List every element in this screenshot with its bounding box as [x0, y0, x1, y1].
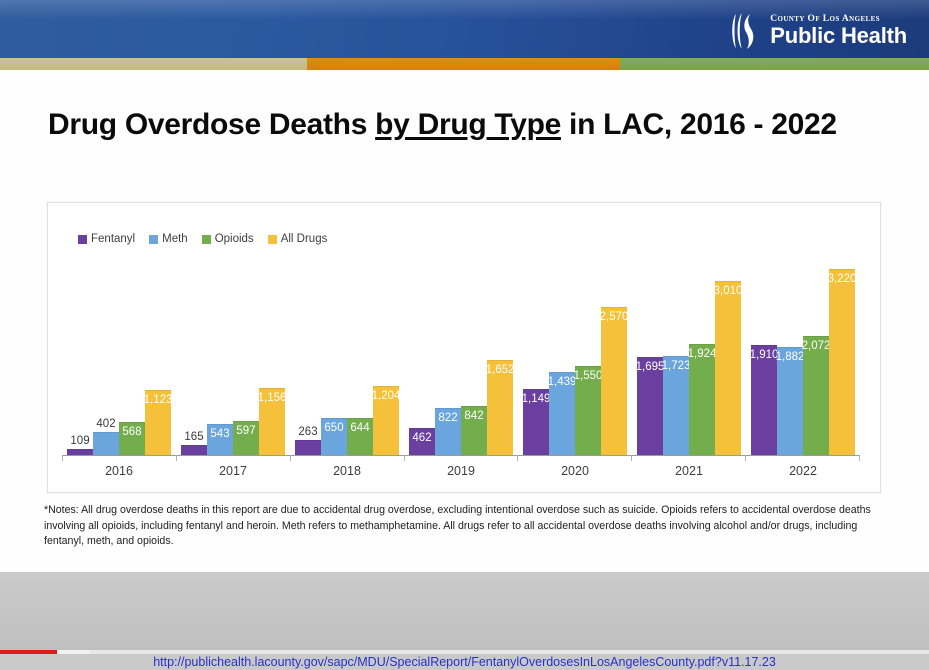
bar-all-drugs-2022: 3,220 — [829, 269, 855, 455]
bar-all-drugs-2019: 1,652 — [487, 360, 513, 455]
x-label-2016: 2016 — [62, 464, 176, 478]
bar-group-2019: 4628228421,652 — [404, 259, 518, 455]
bar-value-label: 462 — [412, 433, 431, 445]
bar-meth-2017: 543 — [207, 424, 233, 455]
x-label-2017: 2017 — [176, 464, 290, 478]
bar-fentanyl-2018: 263 — [295, 440, 321, 455]
bar-group-2021: 1,6951,7231,9243,010 — [632, 259, 746, 455]
bar-fentanyl-2019: 462 — [409, 428, 435, 455]
bar-value-label: 644 — [350, 423, 369, 435]
x-tick — [176, 455, 290, 461]
x-tick — [404, 455, 518, 461]
bar-group-2022: 1,9101,8822,0723,220 — [746, 259, 860, 455]
x-axis-labels: 2016201720182019202020212022 — [62, 464, 860, 478]
bar-value-label: 1,924 — [688, 349, 717, 361]
bar-all-drugs-2021: 3,010 — [715, 281, 741, 455]
bar-value-label: 165 — [184, 432, 203, 444]
bar-opioids-2021: 1,924 — [689, 344, 715, 455]
bar-opioids-2018: 644 — [347, 418, 373, 455]
bar-value-label: 3,220 — [828, 274, 857, 286]
bar-value-label: 1,695 — [636, 362, 665, 374]
x-tick — [62, 455, 176, 461]
bar-value-label: 1,149 — [522, 394, 551, 406]
bar-meth-2022: 1,882 — [777, 347, 803, 455]
slide-header-banner: County of Los Angeles Public Health — [0, 0, 929, 58]
x-label-2019: 2019 — [404, 464, 518, 478]
legend-swatch-icon — [268, 235, 277, 244]
bar-value-label: 1,123 — [144, 395, 173, 407]
page-title: Drug Overdose Deaths by Drug Type in LAC… — [48, 108, 908, 142]
bar-all-drugs-2020: 2,570 — [601, 307, 627, 455]
legend-label: All Drugs — [281, 233, 328, 245]
bar-value-label: 543 — [210, 429, 229, 441]
bar-value-label: 597 — [236, 426, 255, 438]
bar-opioids-2019: 842 — [461, 406, 487, 455]
x-tick — [290, 455, 404, 461]
bar-meth-2021: 1,723 — [663, 356, 689, 455]
legend-item-opioids: Opioids — [202, 233, 254, 245]
bar-value-label: 2,570 — [600, 312, 629, 324]
band-segment-tan — [0, 58, 307, 70]
logo-line-public-health: Public Health — [770, 25, 907, 47]
x-label-2020: 2020 — [518, 464, 632, 478]
legend-label: Meth — [162, 233, 188, 245]
bar-value-label: 842 — [464, 411, 483, 423]
legend-item-fentanyl: Fentanyl — [78, 233, 135, 245]
legend-label: Opioids — [215, 233, 254, 245]
bar-fentanyl-2020: 1,149 — [523, 389, 549, 455]
bar-value-label: 263 — [298, 427, 317, 439]
source-url-link[interactable]: http://publichealth.lacounty.gov/sapc/MD… — [153, 655, 776, 669]
x-tick — [517, 455, 631, 461]
bar-group-2020: 1,1491,4391,5502,570 — [518, 259, 632, 455]
bar-fentanyl-2017: 165 — [181, 445, 207, 455]
pdf-slide-viewer: County of Los Angeles Public Health Drug… — [0, 0, 929, 670]
bar-value-label: 1,882 — [776, 352, 805, 364]
band-segment-green — [620, 58, 929, 70]
chart-panel: FentanylMethOpioidsAll Drugs 1094025681,… — [47, 202, 881, 493]
bar-meth-2019: 822 — [435, 408, 461, 455]
x-tick — [631, 455, 745, 461]
bar-value-label: 1,204 — [372, 391, 401, 403]
bar-value-label: 650 — [324, 423, 343, 435]
logo-text: County of Los Angeles Public Health — [770, 15, 907, 48]
bar-value-label: 1,439 — [548, 377, 577, 389]
x-label-2021: 2021 — [632, 464, 746, 478]
title-part-1: Drug Overdose Deaths — [48, 108, 375, 141]
legend-label: Fentanyl — [91, 233, 135, 245]
bar-value-label: 3,010 — [714, 286, 743, 298]
bar-meth-2016: 402 — [93, 432, 119, 455]
bar-opioids-2020: 1,550 — [575, 366, 601, 455]
bar-opioids-2017: 597 — [233, 421, 259, 455]
legend-swatch-icon — [149, 235, 158, 244]
bar-all-drugs-2016: 1,123 — [145, 390, 171, 455]
chart-legend: FentanylMethOpioidsAll Drugs — [78, 233, 327, 245]
bar-group-2017: 1655435971,156 — [176, 259, 290, 455]
bar-value-label: 109 — [70, 436, 89, 448]
bar-meth-2020: 1,439 — [549, 372, 575, 455]
la-county-public-health-seal-icon — [730, 11, 764, 51]
bar-all-drugs-2017: 1,156 — [259, 388, 285, 455]
x-label-2022: 2022 — [746, 464, 860, 478]
legend-item-all-drugs: All Drugs — [268, 233, 328, 245]
chart-plot-area: 1094025681,1231655435971,1562636506441,2… — [62, 259, 860, 455]
bar-value-label: 402 — [96, 419, 115, 431]
bar-value-label: 1,910 — [750, 350, 779, 362]
status-url-bar: http://publichealth.lacounty.gov/sapc/MD… — [0, 654, 929, 670]
legend-swatch-icon — [78, 235, 87, 244]
bar-group-2016: 1094025681,123 — [62, 259, 176, 455]
title-part-2: in LAC, 2016 - 2022 — [561, 108, 837, 141]
bar-value-label: 1,652 — [486, 365, 515, 377]
bar-opioids-2022: 2,072 — [803, 336, 829, 455]
bar-group-2018: 2636506441,204 — [290, 259, 404, 455]
bar-opioids-2016: 568 — [119, 422, 145, 455]
la-county-public-health-logo: County of Los Angeles Public Health — [730, 10, 907, 52]
bar-meth-2018: 650 — [321, 418, 347, 455]
x-label-2018: 2018 — [290, 464, 404, 478]
bar-value-label: 2,072 — [802, 341, 831, 353]
bar-fentanyl-2021: 1,695 — [637, 357, 663, 455]
bar-all-drugs-2018: 1,204 — [373, 386, 399, 455]
bar-groups: 1094025681,1231655435971,1562636506441,2… — [62, 259, 860, 455]
x-tick — [745, 455, 860, 461]
header-accent-band — [0, 58, 929, 70]
bar-value-label: 1,723 — [662, 361, 691, 373]
bar-fentanyl-2022: 1,910 — [751, 345, 777, 455]
bar-value-label: 568 — [122, 427, 141, 439]
legend-item-meth: Meth — [149, 233, 188, 245]
bar-value-label: 1,550 — [574, 371, 603, 383]
bar-value-label: 1,156 — [258, 393, 287, 405]
slide: County of Los Angeles Public Health Drug… — [0, 0, 929, 572]
chart-notes: *Notes: All drug overdose deaths in this… — [44, 503, 872, 550]
x-axis-ticks — [62, 455, 860, 461]
legend-swatch-icon — [202, 235, 211, 244]
title-part-underlined: by Drug Type — [375, 108, 561, 141]
bar-value-label: 822 — [438, 413, 457, 425]
band-segment-orange — [307, 58, 620, 70]
